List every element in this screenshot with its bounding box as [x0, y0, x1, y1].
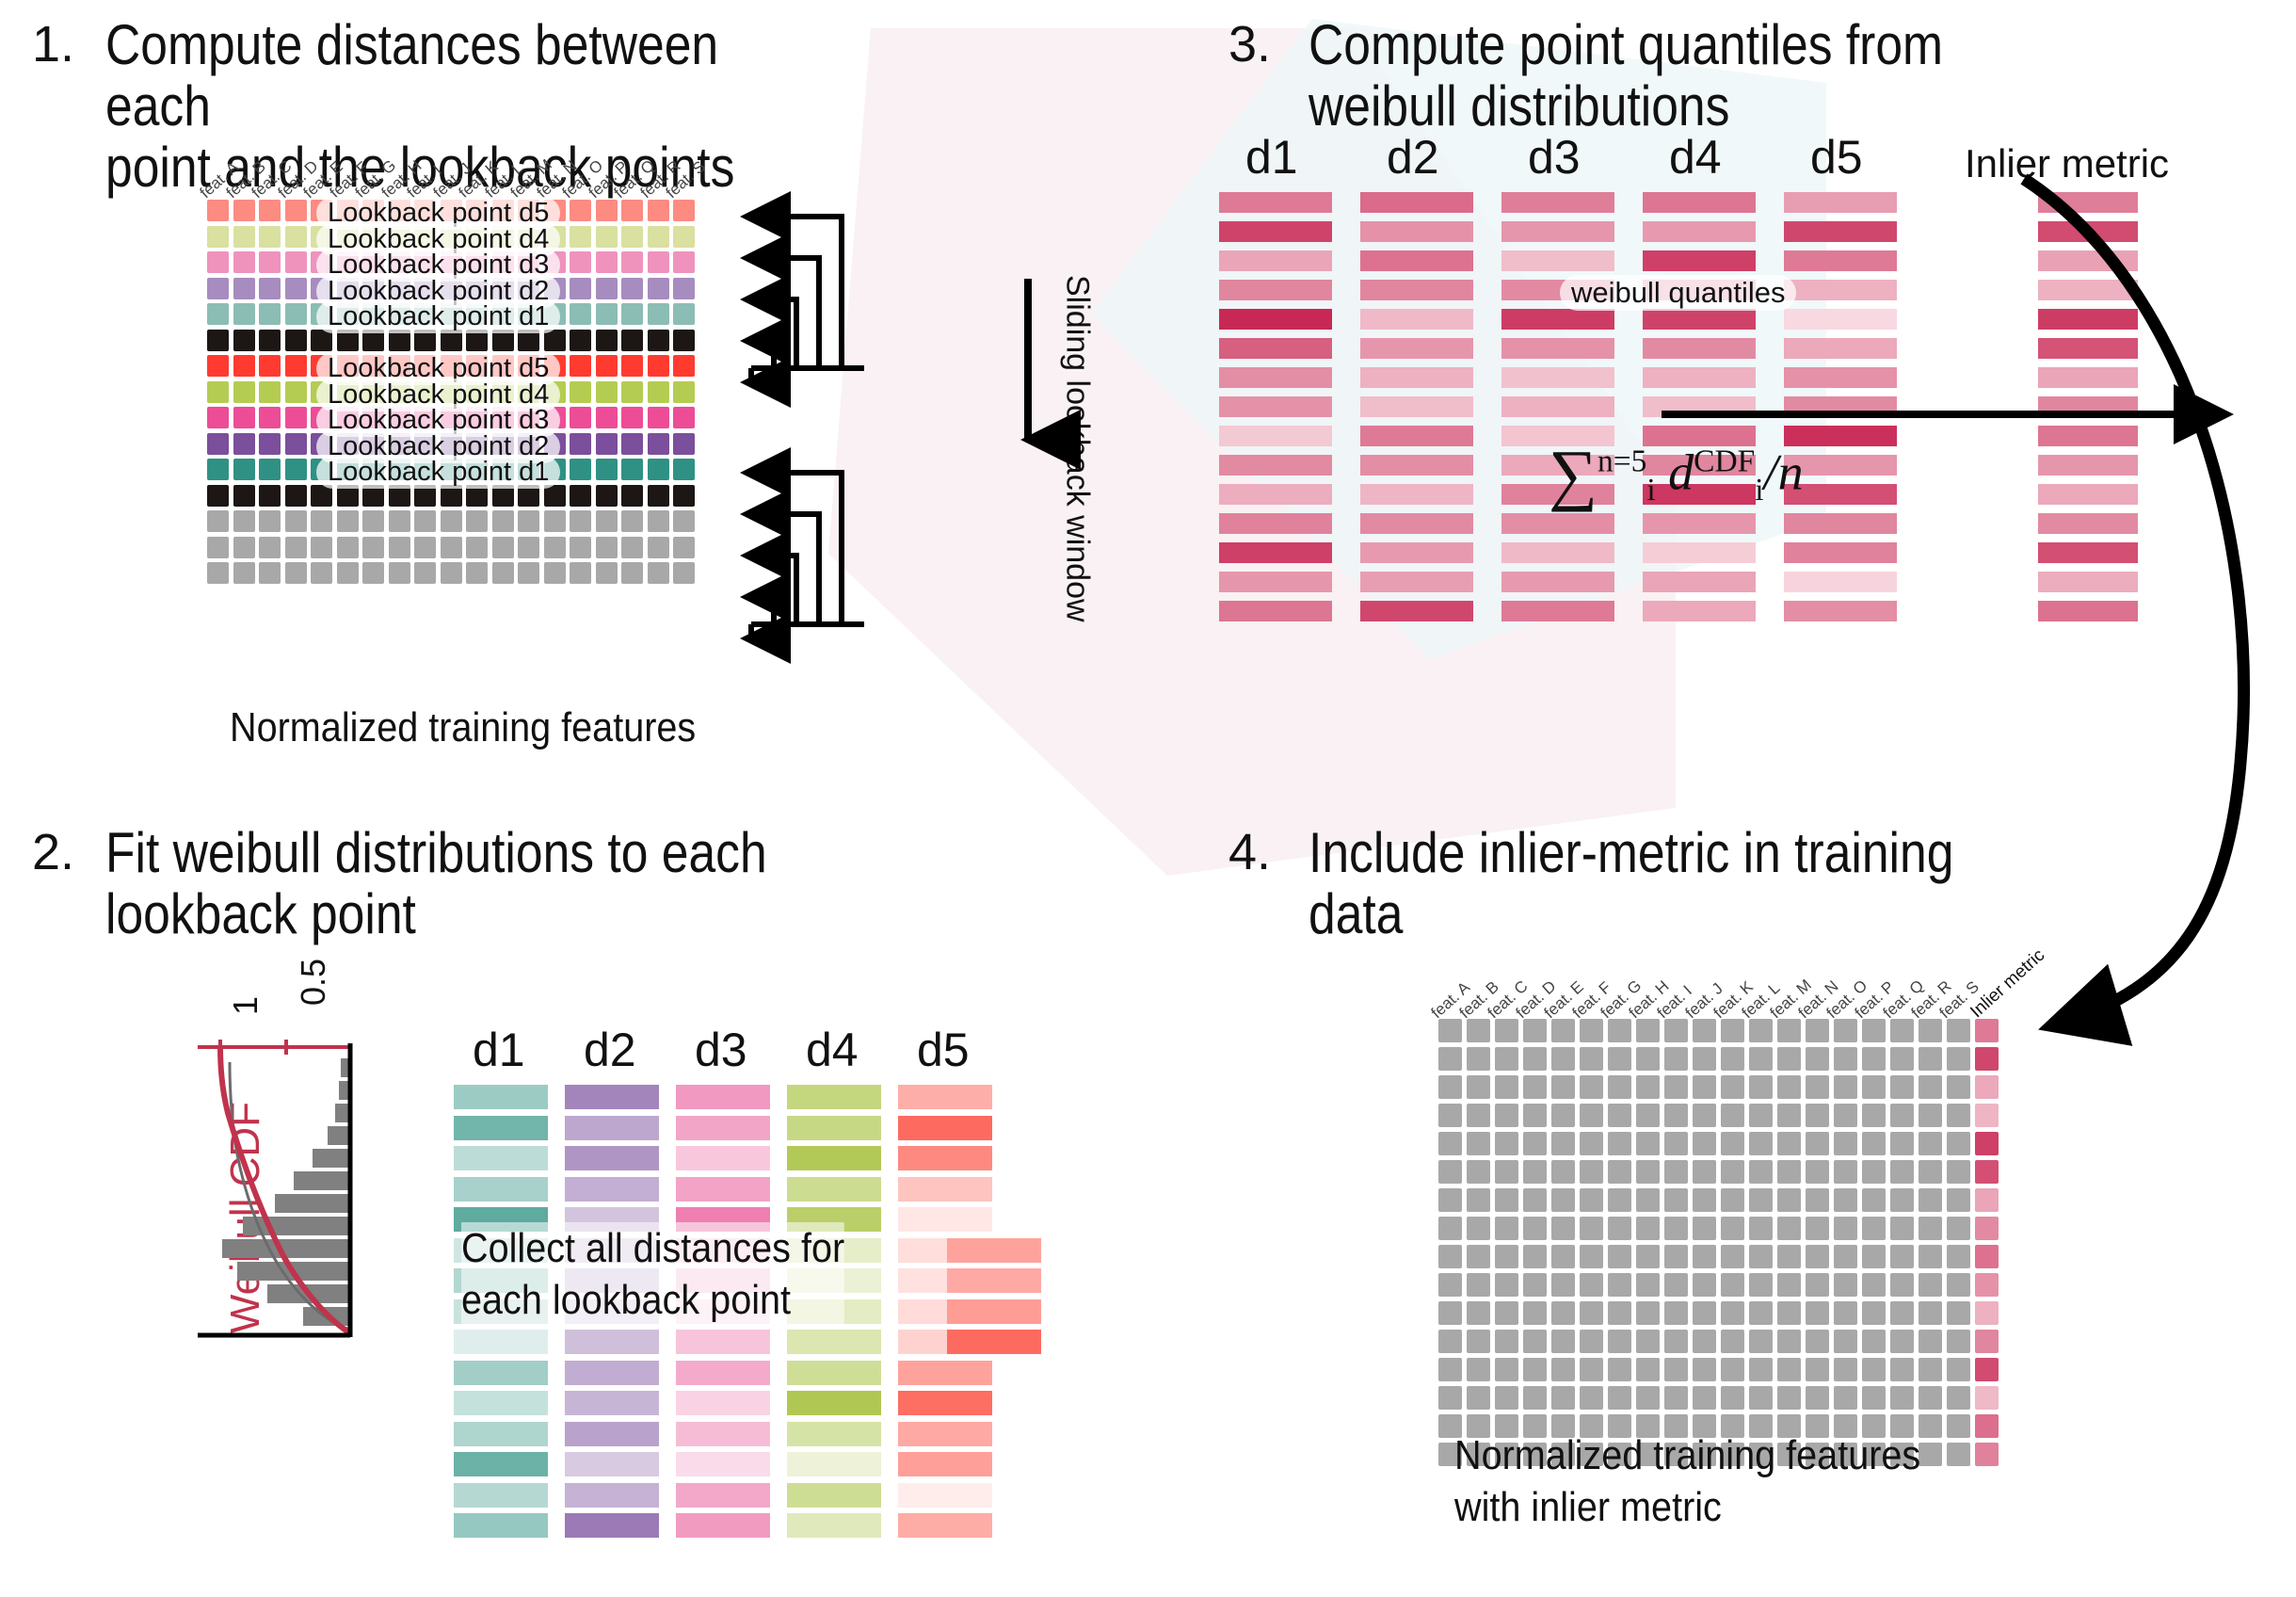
feature-cell: [621, 278, 643, 299]
feature-cell: [1608, 1188, 1631, 1212]
quantile-bar: [1219, 572, 1332, 592]
feature-cell: [259, 200, 281, 221]
inlier-metric-cell: [1975, 1301, 1999, 1325]
quantile-bar: [1501, 221, 1614, 242]
quantile-bar: [1501, 338, 1614, 359]
feature-cell: [1580, 1160, 1603, 1184]
feature-cell: [518, 510, 539, 532]
feature-cell: [285, 433, 307, 455]
feature-cell: [1551, 1217, 1575, 1240]
feature-cell: [1919, 1245, 1942, 1268]
feature-cell: [1608, 1104, 1631, 1127]
feature-cell: [1749, 1019, 1773, 1042]
panel4-row: [1438, 1358, 1999, 1386]
feature-cell: [1580, 1188, 1603, 1212]
panel4-row: [1438, 1019, 1999, 1047]
feature-cell: [233, 226, 255, 248]
feature-cell: [1523, 1104, 1547, 1127]
feature-cell: [1438, 1386, 1462, 1410]
quantile-bar: [1784, 601, 1897, 621]
distance-bar: [454, 1330, 548, 1354]
feature-cell: [1636, 1160, 1660, 1184]
feature-cell: [1749, 1386, 1773, 1410]
feature-cell: [596, 251, 618, 273]
feature-cell: [1580, 1104, 1603, 1127]
step-1-number: 1.: [32, 15, 74, 73]
feature-cell: [544, 562, 566, 584]
feature-cell: [1806, 1301, 1829, 1325]
feature-cell: [1438, 1132, 1462, 1155]
feature-cell: [285, 251, 307, 273]
inlier-metric-cell: [1975, 1414, 1999, 1438]
feature-cell: [1523, 1217, 1547, 1240]
feature-cell: [1551, 1047, 1575, 1071]
feature-cell: [1580, 1047, 1603, 1071]
panel2-column-label-d4: d4: [806, 1023, 859, 1077]
feature-cell: [1749, 1160, 1773, 1184]
distance-bar: [898, 1513, 992, 1538]
quantile-bar: [1360, 221, 1473, 242]
feature-cell: [621, 355, 643, 377]
feature-cell: [466, 510, 488, 532]
distance-bar: [676, 1146, 770, 1170]
quantile-bar: [1643, 221, 1756, 242]
feature-cell: [1636, 1217, 1660, 1240]
feature-cell: [1495, 1386, 1518, 1410]
feature-cell: [311, 562, 332, 584]
feature-cell: [1467, 1301, 1490, 1325]
distance-bar: [676, 1330, 770, 1354]
feature-cell: [285, 381, 307, 403]
feature-cell: [1919, 1358, 1942, 1381]
quantile-bar: [1360, 396, 1473, 417]
panel3-column-label-d1: d1: [1245, 130, 1298, 185]
feature-cell: [1636, 1273, 1660, 1297]
feature-cell: [1834, 1358, 1857, 1381]
step-3-title: Compute point quantiles from weibull dis…: [1309, 15, 2037, 137]
feature-cell: [1636, 1188, 1660, 1212]
feature-cell: [596, 459, 618, 480]
feature-cell: [1693, 1132, 1716, 1155]
feature-cell: [648, 562, 669, 584]
feature-cell: [1495, 1273, 1518, 1297]
distance-bar: [787, 1116, 881, 1140]
panel1-bracket-arrows-bottom: [725, 456, 1064, 672]
feature-cell: [285, 510, 307, 532]
feature-cell: [648, 278, 669, 299]
feature-cell: [1862, 1217, 1886, 1240]
axis-tick-1: 1: [226, 996, 265, 1015]
feature-cell: [1495, 1047, 1518, 1071]
feature-cell: [1721, 1301, 1744, 1325]
feature-cell: [441, 562, 462, 584]
feature-cell: [673, 510, 695, 532]
feature-cell: [1919, 1075, 1942, 1099]
inlier-metric-cell: [1975, 1386, 1999, 1410]
feature-cell: [233, 381, 255, 403]
feature-cell: [1467, 1217, 1490, 1240]
feature-cell: [1636, 1301, 1660, 1325]
feature-cell: [1862, 1245, 1886, 1268]
feature-cell: [362, 562, 384, 584]
feature-cell: [233, 355, 255, 377]
feature-cell: [1495, 1217, 1518, 1240]
feature-cell: [1721, 1019, 1744, 1042]
feature-cell: [1749, 1132, 1773, 1155]
feature-cell: [648, 355, 669, 377]
distance-bar: [565, 1513, 659, 1538]
feature-cell: [1636, 1245, 1660, 1268]
feature-cell: [1523, 1330, 1547, 1353]
weibull-cdf-chart: 1 0.5 Weibull CDF: [188, 1023, 395, 1399]
feature-cell: [673, 537, 695, 558]
quantile-bar: [1360, 338, 1473, 359]
panel2-overlay-caption: Collect all distances for each lookback …: [461, 1222, 844, 1326]
panel-step-1: 1. Compute distances between each point …: [0, 0, 1148, 791]
panel1-row: [207, 537, 699, 563]
feature-cell: [1693, 1245, 1716, 1268]
feature-cell: [233, 562, 255, 584]
quantile-bar: [1219, 426, 1332, 446]
feature-cell: [1693, 1075, 1716, 1099]
feature-cell: [466, 537, 488, 558]
feature-cell: [1947, 1301, 1970, 1325]
feature-cell: [570, 355, 591, 377]
feature-cell: [648, 433, 669, 455]
quantile-bar: [1219, 396, 1332, 417]
feature-cell: [207, 200, 229, 221]
feature-cell: [1890, 1132, 1914, 1155]
feature-cell: [1580, 1075, 1603, 1099]
panel-step-2: 2. Fit weibull distributions to each loo…: [0, 810, 1148, 1597]
quantile-bar: [1501, 396, 1614, 417]
feature-cell: [1664, 1019, 1688, 1042]
distance-bar: [898, 1085, 992, 1109]
sum-lower-limit: i: [1646, 473, 1655, 508]
quantile-bar: [1643, 338, 1756, 359]
feature-cell: [1721, 1188, 1744, 1212]
quantile-bar: [1219, 484, 1332, 505]
feature-cell: [389, 537, 410, 558]
distance-bar: [565, 1146, 659, 1170]
feature-cell: [1862, 1019, 1886, 1042]
quantile-bar: [1784, 280, 1897, 300]
feature-cell: [596, 562, 618, 584]
feature-cell: [1523, 1160, 1547, 1184]
feature-cell: [1862, 1160, 1886, 1184]
feature-cell: [1636, 1358, 1660, 1381]
feature-cell: [233, 303, 255, 325]
feature-cell: [1580, 1330, 1603, 1353]
feature-cell: [1806, 1330, 1829, 1353]
feature-cell: [362, 537, 384, 558]
feature-cell: [570, 303, 591, 325]
feature-cell: [1890, 1217, 1914, 1240]
feature-cell: [648, 459, 669, 480]
feature-cell: [1467, 1330, 1490, 1353]
inlier-metric-cell: [1975, 1160, 1999, 1184]
feature-cell: [648, 537, 669, 558]
feature-cell: [673, 200, 695, 221]
feature-cell: [1693, 1188, 1716, 1212]
distance-bar: [454, 1422, 548, 1446]
distance-bar: [676, 1513, 770, 1538]
distance-bar: [676, 1085, 770, 1109]
feature-cell: [621, 226, 643, 248]
feature-cell: [233, 459, 255, 480]
feature-cell: [207, 459, 229, 480]
feature-cell: [1834, 1301, 1857, 1325]
feature-cell: [1551, 1358, 1575, 1381]
feature-cell: [1664, 1273, 1688, 1297]
panel4-feature-labels: feat. Afeat. Bfeat. Cfeat. Dfeat. Efeat.…: [1440, 966, 2099, 1023]
feature-cell: [570, 381, 591, 403]
feature-cell: [1664, 1047, 1688, 1071]
panel4-row: [1438, 1245, 1999, 1273]
distance-bar: [565, 1361, 659, 1385]
distance-bar: [787, 1452, 881, 1476]
quantile-bar: [1643, 192, 1756, 213]
quantile-bar: [1784, 250, 1897, 271]
feature-cell: [673, 355, 695, 377]
quantile-bar: [1501, 309, 1614, 330]
quantile-bar: [1501, 367, 1614, 388]
feature-cell: [1693, 1104, 1716, 1127]
feature-cell: [1664, 1386, 1688, 1410]
feature-cell: [1919, 1273, 1942, 1297]
feature-cell: [1834, 1273, 1857, 1297]
feature-cell: [1551, 1273, 1575, 1297]
feature-cell: [1777, 1188, 1801, 1212]
formula-tail: /n: [1764, 444, 1804, 500]
panel4-row: [1438, 1273, 1999, 1301]
feature-cell: [1608, 1132, 1631, 1155]
feature-cell: [1438, 1273, 1462, 1297]
feature-cell: [1495, 1301, 1518, 1325]
feature-cell: [1664, 1075, 1688, 1099]
axis-tick-05: 0.5: [294, 959, 333, 1006]
feature-cell: [1749, 1358, 1773, 1381]
distance-bar: [787, 1513, 881, 1538]
feature-cell: [1438, 1330, 1462, 1353]
feature-cell: [1608, 1330, 1631, 1353]
feature-cell: [544, 510, 566, 532]
feature-cell: [1947, 1217, 1970, 1240]
panel4-grid: [1438, 1019, 1999, 1471]
distance-bar: [565, 1116, 659, 1140]
feature-cell: [207, 278, 229, 299]
panel4-bottom-caption: Normalized training features with inlier…: [1454, 1429, 1920, 1533]
step-4-number: 4.: [1228, 823, 1271, 881]
feature-cell: [1777, 1301, 1801, 1325]
feature-cell: [621, 407, 643, 428]
feature-cell: [1608, 1019, 1631, 1042]
feature-cell: [1467, 1273, 1490, 1297]
feature-cell: [1947, 1160, 1970, 1184]
feature-cell: [673, 485, 695, 507]
inlier-metric-cell: [1975, 1273, 1999, 1297]
feature-cell: [596, 485, 618, 507]
quantile-bar: [1219, 338, 1332, 359]
feature-cell: [1438, 1104, 1462, 1127]
feature-cell: [1551, 1386, 1575, 1410]
feature-cell: [1664, 1104, 1688, 1127]
inlier-metric-cell: [1975, 1358, 1999, 1381]
feature-cell: [233, 510, 255, 532]
feature-cell: [1749, 1188, 1773, 1212]
inlier-metric-cell: [1975, 1217, 1999, 1240]
feature-cell: [1551, 1160, 1575, 1184]
feature-cell: [1777, 1104, 1801, 1127]
feature-cell: [648, 407, 669, 428]
feature-cell: [285, 485, 307, 507]
feature-cell: [1890, 1358, 1914, 1381]
feature-cell: [1664, 1160, 1688, 1184]
quantile-bar: [1643, 367, 1756, 388]
feature-cell: [1664, 1301, 1688, 1325]
feature-cell: [1467, 1104, 1490, 1127]
feature-cell: [1551, 1330, 1575, 1353]
feature-cell: [1636, 1104, 1660, 1127]
feature-cell: [673, 278, 695, 299]
feature-cell: [1495, 1019, 1518, 1042]
quantile-bar: [1360, 367, 1473, 388]
quantile-bar: [1784, 309, 1897, 330]
feature-cell: [596, 381, 618, 403]
feature-cell: [621, 485, 643, 507]
feature-cell: [1749, 1104, 1773, 1127]
feature-cell: [1919, 1019, 1942, 1042]
feature-cell: [1749, 1047, 1773, 1071]
feature-cell: [1438, 1019, 1462, 1042]
feature-cell: [1608, 1301, 1631, 1325]
feature-cell: [596, 355, 618, 377]
feature-cell: [259, 433, 281, 455]
quantile-bar: [1219, 221, 1332, 242]
feature-cell: [1580, 1217, 1603, 1240]
feature-cell: [1947, 1443, 1970, 1466]
feature-cell: [311, 537, 332, 558]
feature-cell: [1749, 1245, 1773, 1268]
feature-cell: [1467, 1019, 1490, 1042]
feature-cell: [285, 303, 307, 325]
feature-cell: [285, 355, 307, 377]
feature-cell: [259, 459, 281, 480]
inlier-metric-cell: [1975, 1019, 1999, 1042]
feature-cell: [1890, 1245, 1914, 1268]
panel3-overlay-caption: weibull quantiles: [1560, 275, 1796, 311]
quantile-bar: [1219, 192, 1332, 213]
feature-cell: [1919, 1132, 1942, 1155]
feature-cell: [596, 200, 618, 221]
feature-cell: [1551, 1301, 1575, 1325]
distance-bar: [676, 1483, 770, 1508]
panel3-formula: ∑n=5i dCDFi/n: [1549, 435, 1804, 514]
feature-cell: [362, 510, 384, 532]
feature-cell: [570, 433, 591, 455]
feature-cell: [233, 433, 255, 455]
feature-cell: [259, 251, 281, 273]
feature-cell: [259, 485, 281, 507]
feature-cell: [1947, 1245, 1970, 1268]
feature-cell: [1438, 1301, 1462, 1325]
feature-cell: [621, 381, 643, 403]
feature-cell: [1834, 1047, 1857, 1071]
feature-cell: [1806, 1132, 1829, 1155]
feature-cell: [673, 226, 695, 248]
feature-cell: [1523, 1386, 1547, 1410]
feature-cell: [1438, 1047, 1462, 1071]
panel4-row: [1438, 1188, 1999, 1217]
feature-cell: [673, 562, 695, 584]
feature-cell: [311, 510, 332, 532]
distance-bar: [787, 1361, 881, 1385]
feature-cell: [1523, 1273, 1547, 1297]
feature-cell: [648, 510, 669, 532]
feature-cell: [1551, 1075, 1575, 1099]
feature-cell: [621, 562, 643, 584]
quantile-bar: [1219, 601, 1332, 621]
feature-cell: [1693, 1273, 1716, 1297]
feature-cell: [1721, 1245, 1744, 1268]
distance-bar: [454, 1483, 548, 1508]
panel4-row: [1438, 1386, 1999, 1414]
formula-d: d: [1668, 444, 1694, 500]
lookback-point-label: Lookback point d1: [316, 300, 560, 333]
feature-cell: [492, 510, 514, 532]
distance-bar: [676, 1452, 770, 1476]
feature-cell: [1693, 1019, 1716, 1042]
feature-cell: [1636, 1075, 1660, 1099]
feature-cell: [1438, 1160, 1462, 1184]
feature-cell: [1834, 1160, 1857, 1184]
feature-cell: [648, 485, 669, 507]
feature-cell: [1721, 1047, 1744, 1071]
panel2-column-label-d1: d1: [473, 1023, 525, 1077]
feature-cell: [1919, 1160, 1942, 1184]
feature-cell: [1862, 1301, 1886, 1325]
feature-cell: [1467, 1132, 1490, 1155]
distance-bar: [898, 1207, 992, 1232]
feature-cell: [1551, 1104, 1575, 1127]
panel3-column-label-d4: d4: [1669, 130, 1722, 185]
quantile-bar: [1219, 280, 1332, 300]
feature-cell: [570, 510, 591, 532]
lookback-point-label: Lookback point d1: [316, 456, 560, 489]
feature-cell: [570, 537, 591, 558]
feature-cell: [1749, 1075, 1773, 1099]
feature-cell: [1467, 1188, 1490, 1212]
feature-cell: [1495, 1245, 1518, 1268]
feature-cell: [1523, 1047, 1547, 1071]
distance-bar: [565, 1422, 659, 1446]
feature-cell: [1608, 1358, 1631, 1381]
feature-cell: [673, 433, 695, 455]
feature-cell: [233, 251, 255, 273]
quantile-bar: [1219, 309, 1332, 330]
feature-cell: [1467, 1358, 1490, 1381]
quantile-bar: [1643, 601, 1756, 621]
distance-bar: [787, 1177, 881, 1202]
inlier-metric-cell: [1975, 1047, 1999, 1071]
feature-cell: [492, 562, 514, 584]
feature-cell: [414, 562, 436, 584]
distance-bar: [787, 1483, 881, 1508]
feature-cell: [1919, 1443, 1942, 1466]
feature-cell: [1438, 1217, 1462, 1240]
feature-cell: [1438, 1075, 1462, 1099]
panel3-column-label-d5: d5: [1810, 130, 1863, 185]
